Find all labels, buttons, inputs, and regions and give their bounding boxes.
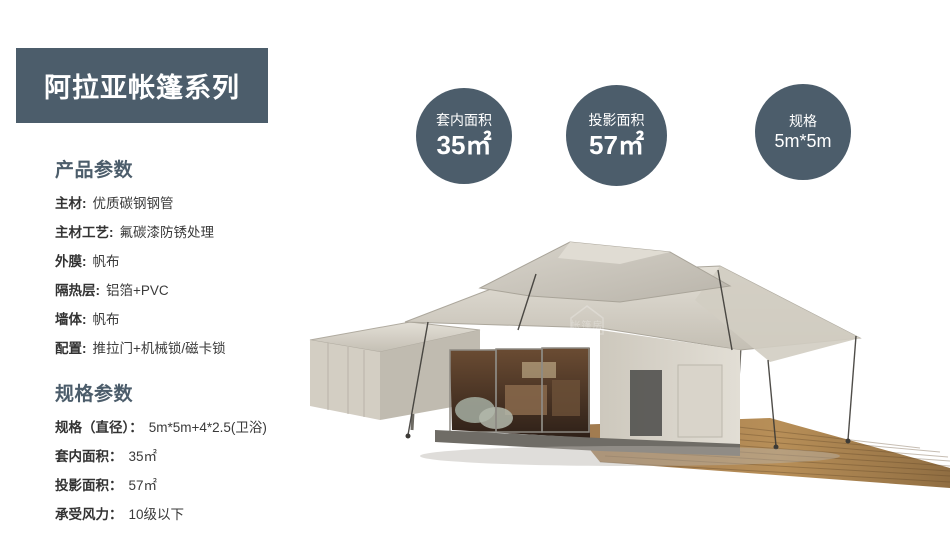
spec-value: 35㎡ — [129, 445, 158, 465]
section-heading-product: 产品参数 — [55, 155, 385, 182]
spec-label: 外膜: — [55, 250, 87, 270]
stat-value: 35㎡ — [437, 131, 492, 160]
spec-label: 隔热层: — [55, 279, 100, 299]
spec-value: 10级以下 — [129, 503, 185, 523]
page-title: 阿拉亚帐篷系列 — [44, 66, 240, 105]
spec-row: 主材: 优质碳钢钢管 — [55, 192, 385, 212]
spec-value: 帆布 — [93, 250, 120, 270]
spec-label: 主材: — [55, 192, 87, 212]
stat-label: 套内面积 — [436, 112, 492, 129]
stat-value: 5m*5m — [774, 132, 831, 152]
watermark-text: 帐篷房 — [571, 319, 604, 332]
spec-value: 57㎡ — [129, 474, 158, 494]
spec-label: 主材工艺: — [55, 221, 114, 241]
stat-circle-dimensions: 规格 5m*5m — [755, 84, 851, 180]
stat-label: 投影面积 — [589, 112, 645, 129]
spec-value: 优质碳钢钢管 — [93, 192, 174, 212]
spec-label: 承受风力： — [55, 503, 123, 523]
spec-label: 墙体: — [55, 308, 87, 328]
stat-value: 57㎡ — [589, 131, 644, 160]
spec-value: 铝箔+PVC — [106, 279, 169, 299]
side-door — [630, 370, 662, 436]
spec-value: 推拉门+机械锁/磁卡锁 — [93, 337, 226, 357]
watermark: 帐篷房 — [537, 300, 637, 340]
spec-label: 规格（直径）： — [55, 416, 143, 436]
spec-value: 氟碳漆防锈处理 — [120, 221, 215, 241]
annex-wall-front — [310, 340, 380, 420]
title-banner: 阿拉亚帐篷系列 — [16, 48, 268, 123]
stat-circle-projection-area: 投影面积 57㎡ — [566, 85, 667, 186]
spec-value: 5m*5m+4*2.5(卫浴) — [149, 416, 267, 436]
stat-label: 规格 — [789, 113, 817, 130]
slide-page: 阿拉亚帐篷系列 产品参数 主材: 优质碳钢钢管 主材工艺: 氟碳漆防锈处理 外膜… — [0, 0, 950, 534]
watermark-house-icon: 帐篷房 — [539, 302, 635, 338]
tent-illustration — [300, 230, 950, 530]
stat-circle-interior-area: 套内面积 35㎡ — [416, 88, 512, 184]
ground-shadow — [420, 446, 840, 466]
spec-label: 配置: — [55, 337, 87, 357]
side-panel — [678, 365, 722, 437]
spec-value: 帆布 — [93, 308, 120, 328]
spec-label: 套内面积： — [55, 445, 123, 465]
spec-label: 投影面积： — [55, 474, 123, 494]
